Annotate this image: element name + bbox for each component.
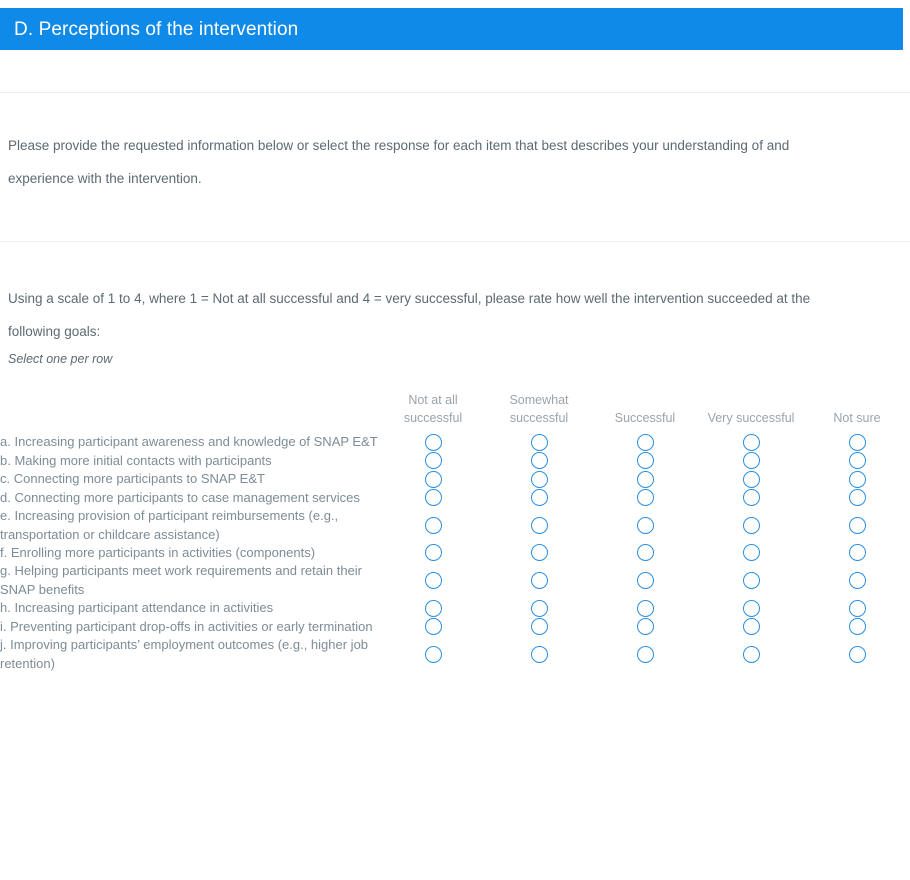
matrix-cell[interactable] [380, 636, 486, 673]
question-hint: Select one per row [8, 350, 850, 369]
matrix-header-spacer [0, 391, 380, 433]
radio-button[interactable] [531, 452, 548, 469]
radio-button[interactable] [743, 618, 760, 635]
matrix-cell[interactable] [804, 544, 910, 562]
radio-button[interactable] [743, 517, 760, 534]
matrix-row: j. Improving participants’ employment ou… [0, 636, 910, 673]
matrix-cell[interactable] [804, 599, 910, 617]
column-header-not-at-all-successful: Not at all successful [380, 391, 486, 433]
radio-button[interactable] [425, 572, 442, 589]
matrix-cell[interactable] [486, 489, 592, 507]
matrix-cell[interactable] [380, 452, 486, 470]
matrix-cell[interactable] [804, 433, 910, 451]
column-header-very-successful: Very successful [698, 391, 804, 433]
radio-button[interactable] [531, 517, 548, 534]
radio-button[interactable] [849, 544, 866, 561]
matrix-cell[interactable] [592, 544, 698, 562]
radio-button[interactable] [849, 434, 866, 451]
matrix-cell[interactable] [486, 470, 592, 488]
matrix-row: f. Enrolling more participants in activi… [0, 544, 910, 562]
radio-button[interactable] [743, 489, 760, 506]
question-prompt: Using a scale of 1 to 4, where 1 = Not a… [8, 282, 850, 348]
matrix-row-label: j. Improving participants’ employment ou… [0, 636, 380, 673]
question-prompt-block: Using a scale of 1 to 4, where 1 = Not a… [0, 242, 910, 369]
matrix-row: g. Helping participants meet work requir… [0, 562, 910, 599]
matrix-row-label: c. Connecting more participants to SNAP … [0, 470, 380, 488]
radio-button[interactable] [743, 572, 760, 589]
radio-button[interactable] [531, 572, 548, 589]
radio-button[interactable] [743, 646, 760, 663]
matrix-cell[interactable] [698, 470, 804, 488]
matrix-cell[interactable] [486, 618, 592, 636]
matrix-cell[interactable] [592, 470, 698, 488]
radio-button[interactable] [849, 572, 866, 589]
radio-button[interactable] [637, 618, 654, 635]
radio-button[interactable] [637, 452, 654, 469]
matrix-cell[interactable] [380, 599, 486, 617]
radio-button[interactable] [425, 471, 442, 488]
matrix-cell[interactable] [380, 618, 486, 636]
column-header-not-sure: Not sure [804, 391, 910, 433]
matrix-cell[interactable] [592, 636, 698, 673]
radio-button[interactable] [637, 489, 654, 506]
radio-button[interactable] [849, 517, 866, 534]
matrix-row-label: f. Enrolling more participants in activi… [0, 544, 380, 562]
matrix-cell[interactable] [698, 636, 804, 673]
column-header-successful: Successful [592, 391, 698, 433]
matrix-cell[interactable] [698, 433, 804, 451]
radio-button[interactable] [531, 646, 548, 663]
radio-button[interactable] [743, 434, 760, 451]
radio-button[interactable] [743, 544, 760, 561]
intro-text: Please provide the requested information… [8, 129, 850, 195]
radio-button[interactable] [637, 646, 654, 663]
column-header-somewhat-successful: Somewhat successful [486, 391, 592, 433]
matrix-cell[interactable] [804, 507, 910, 544]
matrix-cell[interactable] [804, 452, 910, 470]
radio-button[interactable] [531, 544, 548, 561]
matrix-cell[interactable] [804, 618, 910, 636]
radio-button[interactable] [637, 434, 654, 451]
matrix-cell[interactable] [486, 452, 592, 470]
radio-button[interactable] [425, 517, 442, 534]
rating-matrix-table: Not at all successful Somewhat successfu… [0, 391, 910, 673]
matrix-cell[interactable] [698, 452, 804, 470]
matrix-cell[interactable] [592, 452, 698, 470]
matrix-cell[interactable] [592, 489, 698, 507]
matrix-cell[interactable] [698, 599, 804, 617]
matrix-cell[interactable] [804, 489, 910, 507]
matrix-row-label: i. Preventing participant drop-offs in a… [0, 618, 380, 636]
radio-button[interactable] [637, 600, 654, 617]
radio-button[interactable] [531, 489, 548, 506]
matrix-body: a. Increasing participant awareness and … [0, 433, 910, 673]
matrix-cell[interactable] [804, 470, 910, 488]
matrix-row: b. Making more initial contacts with par… [0, 452, 910, 470]
radio-button[interactable] [425, 452, 442, 469]
matrix-row: d. Connecting more participants to case … [0, 489, 910, 507]
radio-button[interactable] [425, 544, 442, 561]
matrix-cell[interactable] [698, 618, 804, 636]
radio-button[interactable] [849, 646, 866, 663]
radio-button[interactable] [637, 517, 654, 534]
matrix-cell[interactable] [592, 507, 698, 544]
matrix-row-label: a. Increasing participant awareness and … [0, 433, 380, 451]
radio-button[interactable] [849, 618, 866, 635]
matrix-row: c. Connecting more participants to SNAP … [0, 470, 910, 488]
matrix-cell[interactable] [380, 562, 486, 599]
matrix-cell[interactable] [804, 636, 910, 673]
matrix-cell[interactable] [592, 433, 698, 451]
matrix-row: e. Increasing provision of participant r… [0, 507, 910, 544]
matrix-row-label: b. Making more initial contacts with par… [0, 452, 380, 470]
radio-button[interactable] [743, 600, 760, 617]
radio-button[interactable] [849, 489, 866, 506]
matrix-cell[interactable] [380, 470, 486, 488]
matrix-cell[interactable] [380, 433, 486, 451]
matrix-cell[interactable] [804, 562, 910, 599]
matrix-row: h. Increasing participant attendance in … [0, 599, 910, 617]
rating-matrix: Not at all successful Somewhat successfu… [0, 391, 910, 673]
radio-button[interactable] [637, 572, 654, 589]
matrix-row-label: d. Connecting more participants to case … [0, 489, 380, 507]
radio-button[interactable] [425, 618, 442, 635]
matrix-cell[interactable] [380, 507, 486, 544]
radio-button[interactable] [849, 471, 866, 488]
survey-page: D. Perceptions of the intervention Pleas… [0, 8, 910, 673]
matrix-cell[interactable] [486, 433, 592, 451]
matrix-cell[interactable] [592, 562, 698, 599]
radio-button[interactable] [743, 452, 760, 469]
radio-button[interactable] [743, 471, 760, 488]
matrix-cell[interactable] [592, 618, 698, 636]
intro-block: Please provide the requested information… [0, 93, 910, 195]
matrix-header: Not at all successful Somewhat successfu… [0, 391, 910, 433]
section-banner: D. Perceptions of the intervention [0, 8, 903, 50]
radio-button[interactable] [637, 471, 654, 488]
matrix-cell[interactable] [698, 544, 804, 562]
matrix-row-label: e. Increasing provision of participant r… [0, 507, 380, 544]
radio-button[interactable] [531, 434, 548, 451]
radio-button[interactable] [531, 600, 548, 617]
section-title: D. Perceptions of the intervention [14, 20, 298, 39]
matrix-cell[interactable] [380, 489, 486, 507]
radio-button[interactable] [425, 489, 442, 506]
radio-button[interactable] [637, 544, 654, 561]
matrix-cell[interactable] [698, 489, 804, 507]
matrix-header-row: Not at all successful Somewhat successfu… [0, 391, 910, 433]
matrix-cell[interactable] [698, 507, 804, 544]
radio-button[interactable] [849, 452, 866, 469]
radio-button[interactable] [531, 618, 548, 635]
radio-button[interactable] [425, 434, 442, 451]
radio-button[interactable] [531, 471, 548, 488]
matrix-row-label: g. Helping participants meet work requir… [0, 562, 380, 599]
matrix-cell[interactable] [486, 599, 592, 617]
radio-button[interactable] [849, 600, 866, 617]
radio-button[interactable] [425, 646, 442, 663]
radio-button[interactable] [425, 600, 442, 617]
matrix-cell[interactable] [380, 544, 486, 562]
matrix-cell[interactable] [486, 507, 592, 544]
matrix-cell[interactable] [698, 562, 804, 599]
matrix-cell[interactable] [486, 544, 592, 562]
matrix-row: a. Increasing participant awareness and … [0, 433, 910, 451]
matrix-row: i. Preventing participant drop-offs in a… [0, 618, 910, 636]
matrix-cell[interactable] [486, 636, 592, 673]
matrix-row-label: h. Increasing participant attendance in … [0, 599, 380, 617]
matrix-cell[interactable] [486, 562, 592, 599]
matrix-cell[interactable] [592, 599, 698, 617]
